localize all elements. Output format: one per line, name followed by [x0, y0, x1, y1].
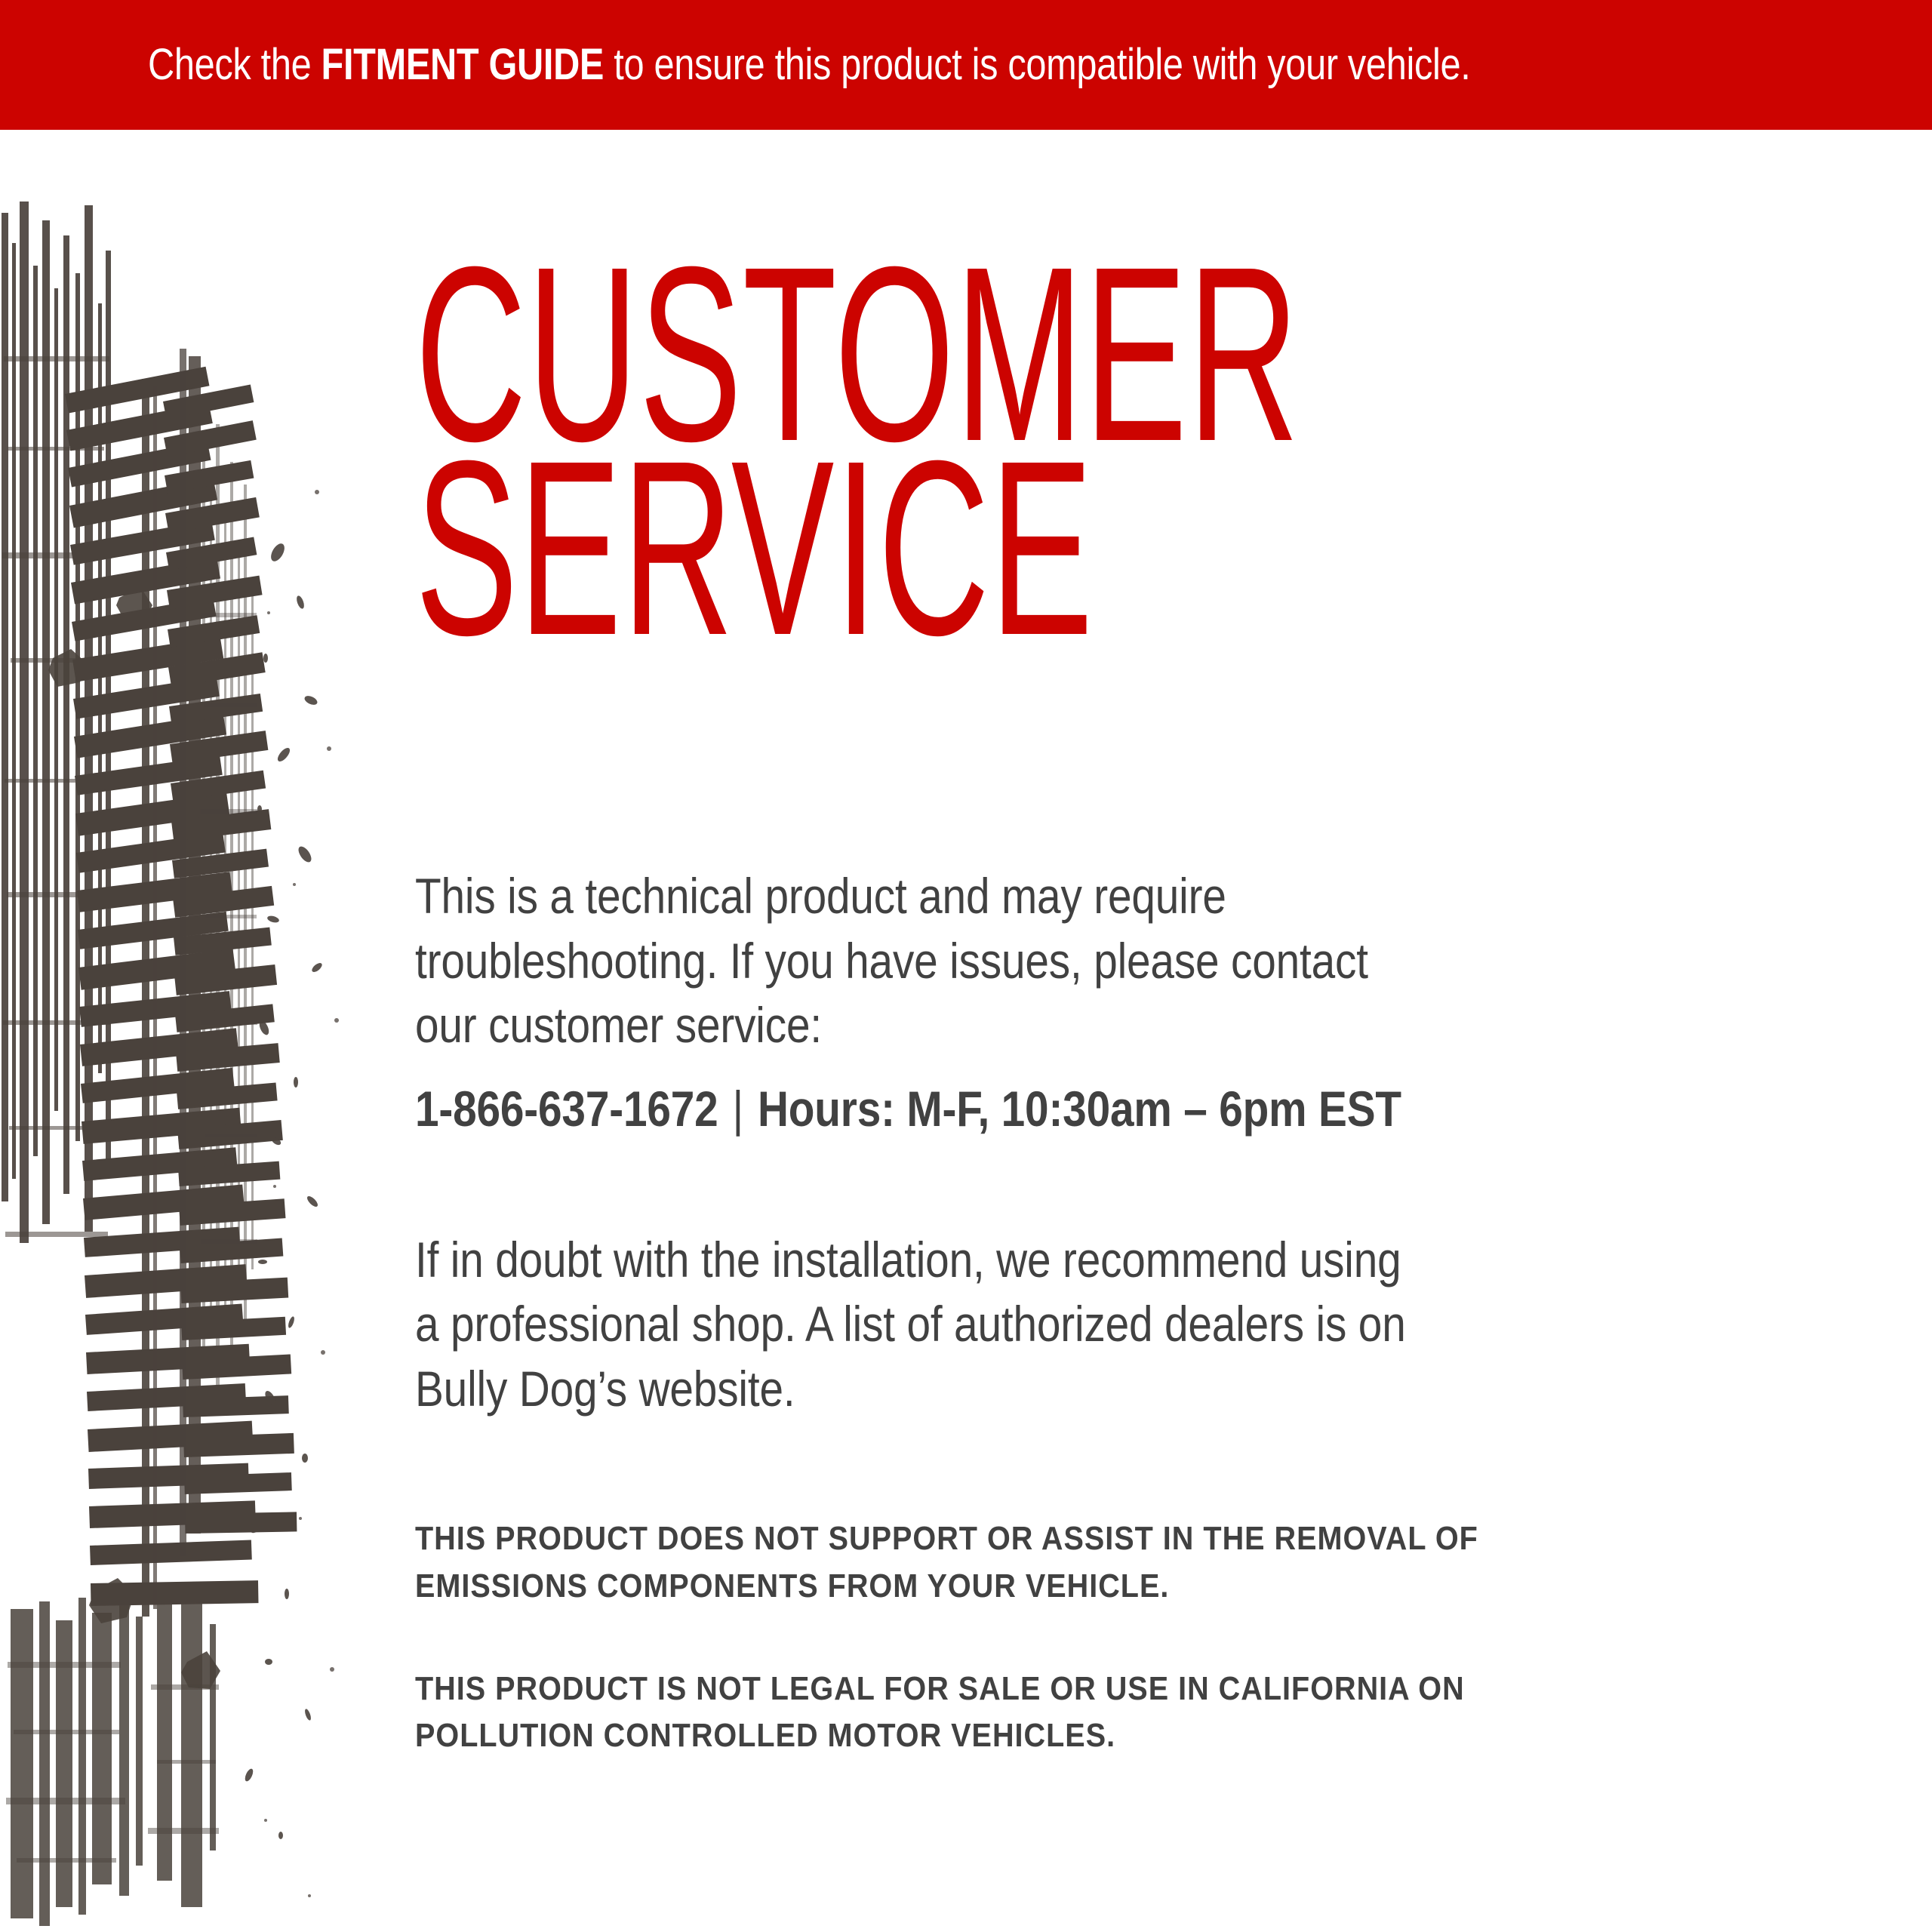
fitment-guide-emphasis: FITMENT GUIDE	[321, 40, 605, 89]
fitment-suffix: to ensure this product is compatible wit…	[604, 40, 1470, 89]
fitment-guide-text: Check the FITMENT GUIDE to ensure this p…	[148, 43, 1470, 87]
legal-notice-california: THIS PRODUCT IS NOT LEGAL FOR SALE OR US…	[415, 1666, 1515, 1760]
installation-paragraph: If in doubt with the installation, we re…	[415, 1228, 1428, 1422]
body-copy: This is a technical product and may requ…	[415, 864, 1849, 1760]
support-hours: Hours: M-F, 10:30am – 6pm EST	[758, 1081, 1401, 1137]
customer-service-content: CUSTOMER SERVICE This is a technical pro…	[415, 130, 1849, 1760]
fitment-guide-banner: Check the FITMENT GUIDE to ensure this p…	[0, 0, 1932, 130]
legal-notice-emissions: THIS PRODUCT DOES NOT SUPPORT OR ASSIST …	[415, 1515, 1515, 1610]
intro-paragraph: This is a technical product and may requ…	[415, 864, 1428, 1058]
contact-separator: |	[718, 1081, 758, 1137]
support-phone-number[interactable]: 1-866-637-1672	[415, 1081, 718, 1137]
page-title: CUSTOMER SERVICE	[415, 130, 1304, 645]
contact-line: 1-866-637-1672|Hours: M-F, 10:30am – 6pm…	[415, 1078, 1648, 1140]
tire-track-icon	[0, 130, 355, 1932]
fitment-prefix: Check the	[148, 40, 321, 89]
